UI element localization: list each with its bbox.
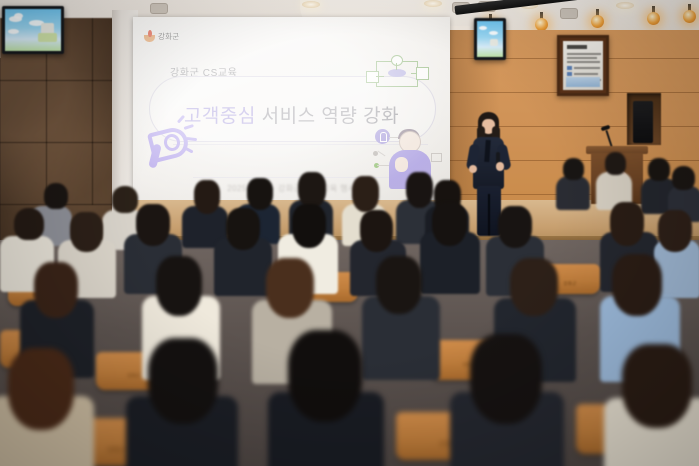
megaphone-icon bbox=[138, 113, 200, 175]
audience-member bbox=[406, 172, 433, 208]
pendant-lamp-icon bbox=[596, 9, 599, 20]
audience-member bbox=[247, 178, 273, 210]
audience-member bbox=[226, 208, 260, 250]
ceiling-vent bbox=[150, 3, 168, 14]
audience-member bbox=[510, 258, 558, 316]
chair-row-label: 강화군 bbox=[127, 373, 140, 379]
audience-member bbox=[14, 208, 44, 240]
chair-row-label: 강화군 bbox=[563, 281, 576, 287]
lightbulb-icon bbox=[375, 129, 390, 144]
audience-member bbox=[672, 166, 695, 190]
audience-member bbox=[112, 186, 138, 213]
audience-member bbox=[360, 210, 393, 252]
slide-logo-text: 강화군 bbox=[158, 31, 179, 42]
lecture-hall-photo: 강화군 강화군 CS교육 고객중심 서비스 역량 강화 bbox=[0, 0, 699, 466]
audience-member bbox=[563, 158, 584, 180]
node-diagram-icon bbox=[366, 55, 428, 91]
audience-member bbox=[156, 256, 202, 316]
pendant-lamp-icon bbox=[688, 4, 691, 12]
audience-member bbox=[432, 202, 467, 246]
wall-speaker-in-alcove bbox=[627, 93, 661, 145]
audience-member bbox=[34, 262, 78, 318]
recessed-ceiling-spotlight-icon bbox=[302, 1, 320, 8]
wall-mounted-monitor-right bbox=[474, 18, 506, 60]
audience-member bbox=[266, 258, 314, 318]
audience-member bbox=[498, 206, 532, 248]
slide-footer: 2025년 1월 · 강화군 주관 교육 행사 bbox=[133, 183, 450, 194]
wall-mounted-monitor-left bbox=[2, 6, 64, 54]
audience-member bbox=[148, 338, 218, 424]
audience-member bbox=[292, 204, 326, 248]
ceiling-vent bbox=[560, 8, 578, 19]
pendant-lamp-icon bbox=[652, 6, 655, 16]
audience-member bbox=[44, 183, 68, 209]
audience-member bbox=[194, 180, 220, 214]
projection-screen: 강화군 강화군 CS교육 고객중심 서비스 역량 강화 bbox=[133, 17, 450, 200]
audience-member bbox=[136, 204, 170, 246]
audience-member bbox=[70, 212, 103, 252]
recessed-ceiling-spotlight-icon bbox=[616, 2, 634, 9]
audience-member bbox=[298, 172, 326, 208]
audience-member bbox=[556, 176, 590, 210]
framed-notice-board bbox=[557, 35, 609, 96]
audience-member bbox=[605, 152, 626, 175]
recessed-ceiling-spotlight-icon bbox=[424, 0, 442, 7]
audience-member bbox=[648, 158, 670, 181]
audience-member bbox=[612, 254, 662, 316]
audience-member bbox=[376, 256, 422, 314]
audience-member bbox=[610, 202, 644, 246]
audience-member bbox=[8, 348, 74, 430]
audience-member bbox=[658, 210, 692, 252]
ganghwa-gun-flame-emblem-icon bbox=[144, 30, 155, 42]
audience-member bbox=[622, 344, 692, 428]
pendant-lamp-icon bbox=[540, 12, 543, 30]
audience-member bbox=[352, 176, 379, 212]
chair-row-label: 강화군 bbox=[107, 445, 124, 454]
slide-logo: 강화군 bbox=[144, 30, 179, 42]
audience-member bbox=[288, 330, 362, 422]
audience-member bbox=[470, 334, 542, 424]
